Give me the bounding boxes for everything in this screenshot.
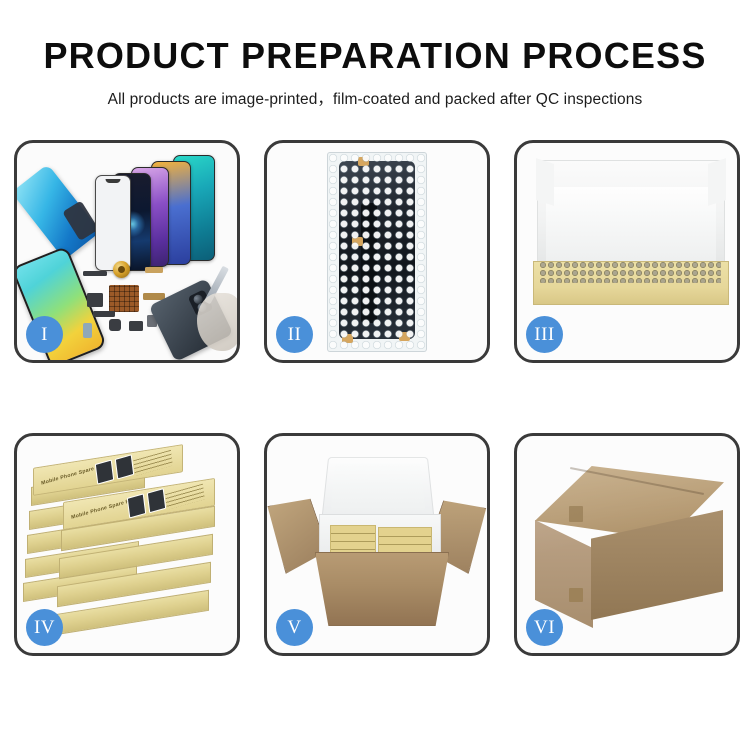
- box-lid: [537, 160, 725, 272]
- panel-step-5: V: [264, 433, 490, 656]
- header: PRODUCT PREPARATION PROCESS All products…: [0, 0, 750, 109]
- carton-tape-upper: [569, 506, 583, 522]
- panel-step-3: III: [514, 140, 740, 363]
- bubble-wrapped-contents: [539, 261, 721, 283]
- bracket-part: [87, 293, 103, 307]
- carton-tape-lower: [569, 588, 583, 602]
- step-badge-1: I: [26, 316, 63, 353]
- step-badge-5: V: [276, 609, 313, 646]
- bubble-wrap-bag: [327, 152, 427, 352]
- sim-tray-part: [83, 323, 92, 338]
- carton-body: [315, 552, 449, 626]
- logic-board-part: [109, 285, 139, 312]
- page-title: PRODUCT PREPARATION PROCESS: [0, 38, 750, 74]
- phone-screen-blank: [95, 175, 131, 271]
- process-grid: I II: [14, 140, 736, 656]
- step-badge-6: VI: [526, 609, 563, 646]
- step-badge-3: III: [526, 316, 563, 353]
- connector-part: [145, 267, 163, 273]
- panel-step-2: II: [264, 140, 490, 363]
- page-subtitle: All products are image-printed，film-coat…: [0, 87, 750, 109]
- camera-module-part: [109, 319, 121, 331]
- speaker-coil-part: [113, 261, 130, 278]
- vibrator-part: [129, 321, 143, 331]
- ribbon-part: [93, 311, 115, 317]
- bubble-texture: [328, 153, 426, 351]
- panel-step-4: Mobile Phone Spare Parts Mobile Phone Sp…: [14, 433, 240, 656]
- blue-screen-assembly: [17, 164, 101, 260]
- step-badge-4: IV: [26, 609, 63, 646]
- infographic-page: PRODUCT PREPARATION PROCESS All products…: [0, 0, 750, 750]
- panel-step-1: I: [14, 140, 240, 363]
- flex-cable-part: [83, 271, 107, 276]
- foam-lid: [321, 457, 434, 519]
- panel-step-6: VI: [514, 433, 740, 656]
- phone-screen-fan: [101, 153, 237, 273]
- step-badge-2: II: [276, 316, 313, 353]
